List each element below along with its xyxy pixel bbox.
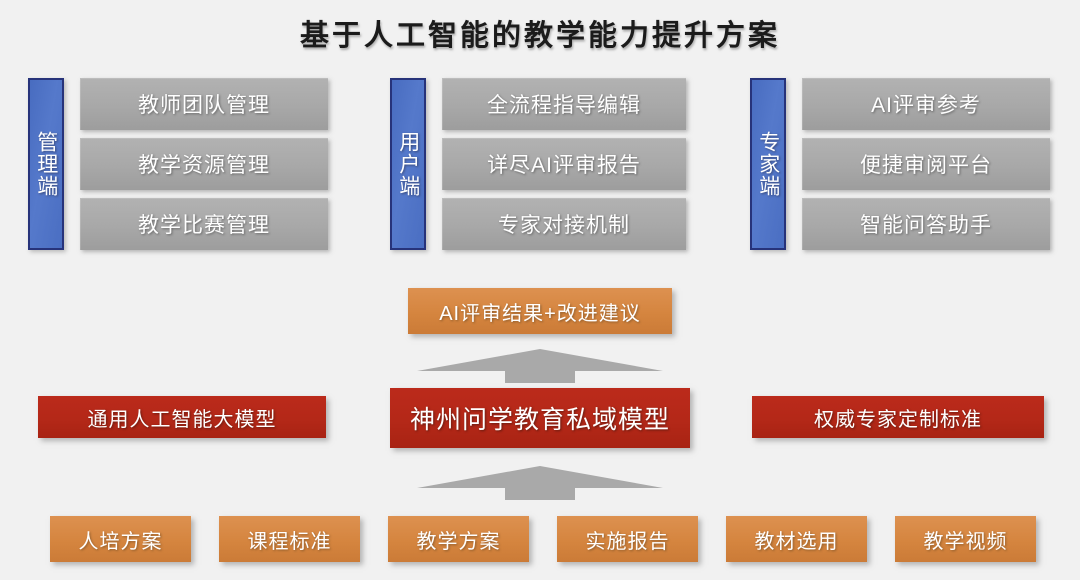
artifact-chip[interactable]: 教学视频 <box>895 516 1036 562</box>
group-bars-expert: AI评审参考 便捷审阅平台 智能问答助手 <box>802 78 1050 250</box>
feature-bar[interactable]: 全流程指导编辑 <box>442 78 686 130</box>
artifact-chip[interactable]: 教材选用 <box>726 516 867 562</box>
feature-bar[interactable]: 教学比赛管理 <box>80 198 328 250</box>
feature-bar[interactable]: 教师团队管理 <box>80 78 328 130</box>
artifact-chip-row: 人培方案 课程标准 教学方案 实施报告 教材选用 教学视频 <box>0 516 1080 564</box>
artifact-chip[interactable]: 课程标准 <box>219 516 360 562</box>
up-arrow-icon <box>415 462 665 502</box>
group-bars-admin: 教师团队管理 教学资源管理 教学比赛管理 <box>80 78 328 250</box>
platform-group-expert: 专家端 AI评审参考 便捷审阅平台 智能问答助手 <box>750 78 1050 250</box>
platform-group-user: 用户端 全流程指导编辑 详尽AI评审报告 专家对接机制 <box>390 78 686 250</box>
feature-bar[interactable]: 智能问答助手 <box>802 198 1050 250</box>
feature-bar[interactable]: 专家对接机制 <box>442 198 686 250</box>
group-bars-user: 全流程指导编辑 详尽AI评审报告 专家对接机制 <box>442 78 686 250</box>
model-box-standard[interactable]: 权威专家定制标准 <box>752 396 1044 438</box>
artifact-chip[interactable]: 实施报告 <box>557 516 698 562</box>
artifact-chip[interactable]: 教学方案 <box>388 516 529 562</box>
platform-group-admin: 管理端 教师团队管理 教学资源管理 教学比赛管理 <box>28 78 328 250</box>
group-tab-expert[interactable]: 专家端 <box>750 78 786 250</box>
slide-canvas: 基于人工智能的教学能力提升方案 管理端 教师团队管理 教学资源管理 教学比赛管理… <box>0 0 1080 580</box>
feature-bar[interactable]: AI评审参考 <box>802 78 1050 130</box>
up-arrow-icon <box>415 345 665 385</box>
ai-review-result-box[interactable]: AI评审结果+改进建议 <box>408 288 672 334</box>
group-tab-admin[interactable]: 管理端 <box>28 78 64 250</box>
model-box-core[interactable]: 神州问学教育私域模型 <box>390 388 690 448</box>
feature-bar[interactable]: 便捷审阅平台 <box>802 138 1050 190</box>
artifact-chip[interactable]: 人培方案 <box>50 516 191 562</box>
model-box-general[interactable]: 通用人工智能大模型 <box>38 396 326 438</box>
feature-bar[interactable]: 详尽AI评审报告 <box>442 138 686 190</box>
feature-bar[interactable]: 教学资源管理 <box>80 138 328 190</box>
group-tab-user[interactable]: 用户端 <box>390 78 426 250</box>
page-title: 基于人工智能的教学能力提升方案 <box>0 12 1080 54</box>
